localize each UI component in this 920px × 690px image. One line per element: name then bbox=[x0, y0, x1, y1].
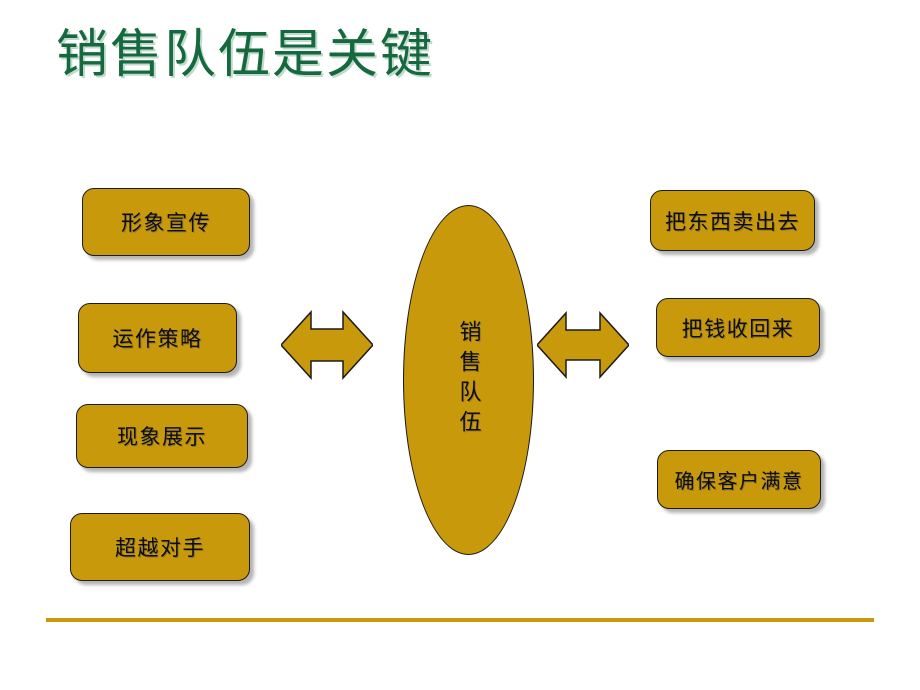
node-label: 把钱收回来 bbox=[682, 313, 795, 343]
page-title: 销售队伍是关键 bbox=[56, 26, 756, 86]
node-label: 现象展示 bbox=[117, 421, 207, 451]
node-label: 把东西卖出去 bbox=[665, 206, 800, 236]
bottom-divider bbox=[46, 618, 874, 622]
center-ellipse-node[interactable]: 销售队伍 bbox=[403, 205, 534, 555]
left-double-arrow-icon bbox=[281, 307, 373, 388]
center-ellipse-label: 销售队伍 bbox=[451, 320, 487, 440]
node-box-left-3[interactable]: 现象展示 bbox=[76, 404, 248, 468]
node-label: 运作策略 bbox=[113, 323, 203, 353]
node-box-right-1[interactable]: 把东西卖出去 bbox=[650, 190, 815, 251]
node-label: 超越对手 bbox=[115, 532, 205, 562]
node-box-left-2[interactable]: 运作策略 bbox=[78, 303, 237, 373]
node-box-left-1[interactable]: 形象宣传 bbox=[82, 188, 250, 256]
node-box-right-2[interactable]: 把钱收回来 bbox=[656, 298, 820, 357]
slide-canvas: 销售队伍是关键 形象宣传 运作策略 现象展示 超越对手 销售队伍 把东西卖出去 … bbox=[0, 0, 920, 690]
node-label: 形象宣传 bbox=[121, 207, 211, 237]
right-double-arrow-icon bbox=[537, 309, 629, 386]
node-label: 确保客户满意 bbox=[675, 465, 804, 494]
node-box-left-4[interactable]: 超越对手 bbox=[70, 513, 250, 581]
node-box-right-3[interactable]: 确保客户满意 bbox=[657, 450, 821, 509]
